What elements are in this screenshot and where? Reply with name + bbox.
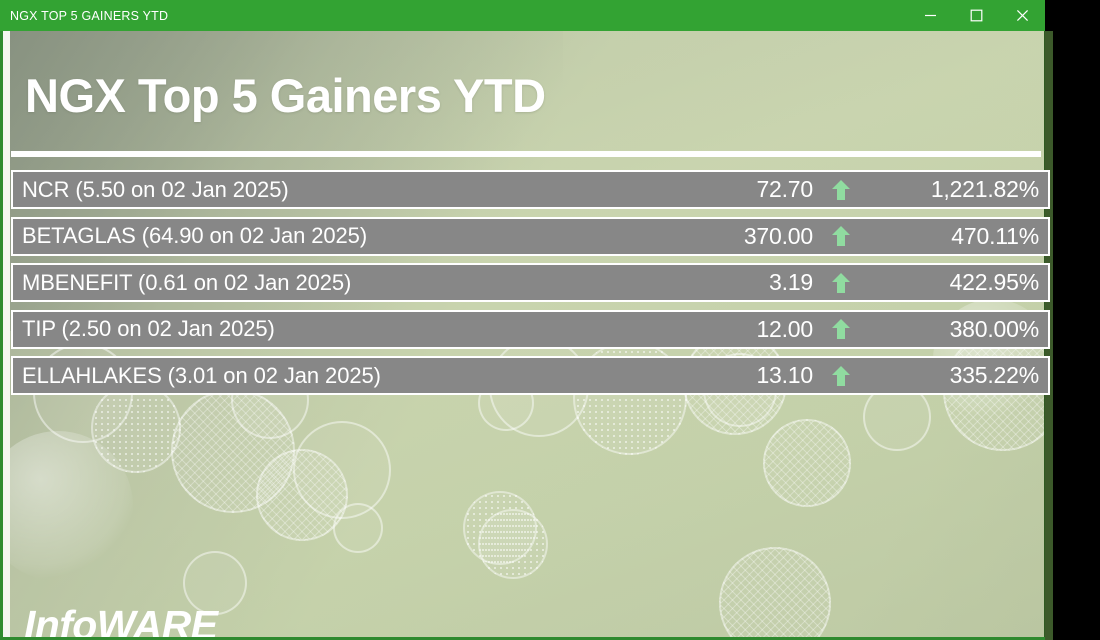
page-title: NGX Top 5 Gainers YTD	[25, 72, 546, 119]
window-body: NGX Top 5 Gainers YTD NCR (5.50 on 02 Ja…	[0, 31, 1045, 640]
row-change: 422.95%	[869, 269, 1048, 296]
arrow-up-icon	[813, 225, 869, 247]
table-row[interactable]: TIP (2.50 on 02 Jan 2025) 12.00 380.00%	[11, 310, 1050, 349]
arrow-up-icon	[813, 365, 869, 387]
maximize-button[interactable]	[953, 0, 999, 31]
row-change: 1,221.82%	[869, 176, 1048, 203]
table-row[interactable]: NCR (5.50 on 02 Jan 2025) 72.70 1,221.82…	[11, 170, 1050, 209]
row-change: 335.22%	[869, 362, 1048, 389]
row-change: 470.11%	[869, 223, 1048, 250]
window-title: NGX TOP 5 GAINERS YTD	[0, 9, 907, 23]
row-price: 13.10	[643, 362, 813, 389]
maximize-icon	[970, 9, 983, 22]
app-window: NGX TOP 5 GAINERS YTD	[0, 0, 1100, 640]
table-row[interactable]: MBENEFIT (0.61 on 02 Jan 2025) 3.19 422.…	[11, 263, 1050, 302]
minimize-button[interactable]	[907, 0, 953, 31]
arrow-up-icon	[813, 272, 869, 294]
title-bar: NGX TOP 5 GAINERS YTD	[0, 0, 1045, 31]
row-price: 72.70	[643, 176, 813, 203]
row-label: NCR (5.50 on 02 Jan 2025)	[13, 177, 643, 203]
table-row[interactable]: BETAGLAS (64.90 on 02 Jan 2025) 370.00 4…	[11, 217, 1050, 256]
table-row[interactable]: ELLAHLAKES (3.01 on 02 Jan 2025) 13.10 3…	[11, 356, 1050, 395]
row-change: 380.00%	[869, 316, 1048, 343]
brand-logo: InfoWARE	[24, 605, 217, 640]
arrow-up-icon	[813, 179, 869, 201]
gainers-table: NCR (5.50 on 02 Jan 2025) 72.70 1,221.82…	[11, 170, 1050, 403]
content-left-strip	[3, 31, 10, 637]
row-price: 12.00	[643, 316, 813, 343]
row-label: TIP (2.50 on 02 Jan 2025)	[13, 316, 643, 342]
arrow-up-icon	[813, 318, 869, 340]
minimize-icon	[924, 9, 937, 22]
title-divider	[11, 151, 1041, 157]
window-controls	[907, 0, 1045, 31]
close-icon	[1016, 9, 1029, 22]
row-label: ELLAHLAKES (3.01 on 02 Jan 2025)	[13, 363, 643, 389]
row-label: MBENEFIT (0.61 on 02 Jan 2025)	[13, 270, 643, 296]
content-area: NGX Top 5 Gainers YTD NCR (5.50 on 02 Ja…	[7, 31, 1041, 637]
close-button[interactable]	[999, 0, 1045, 31]
row-price: 3.19	[643, 269, 813, 296]
row-label: BETAGLAS (64.90 on 02 Jan 2025)	[13, 223, 643, 249]
row-price: 370.00	[643, 223, 813, 250]
